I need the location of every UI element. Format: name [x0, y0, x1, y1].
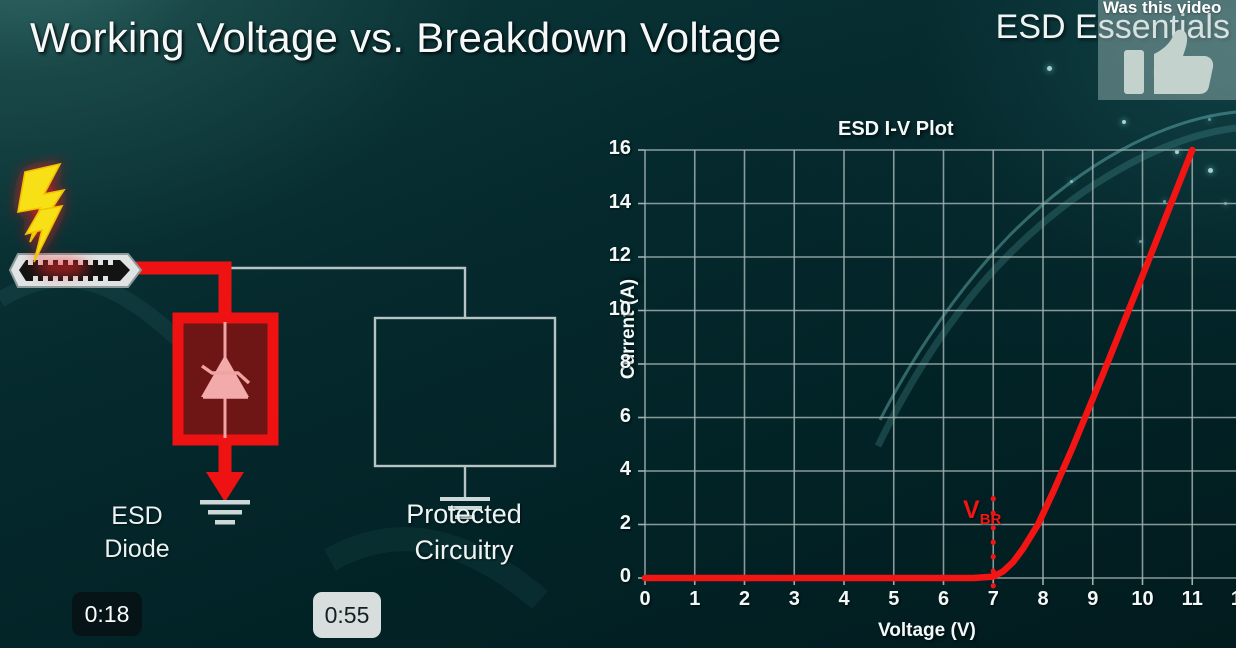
chart-x-tick: 7	[973, 588, 1013, 611]
vbr-sub: BR	[980, 511, 1002, 528]
chart-xlabel: Voltage (V)	[878, 620, 976, 642]
esd-current-path	[135, 268, 225, 318]
chart-x-tick: 6	[924, 588, 964, 611]
chart-y-tick: 8	[589, 351, 631, 374]
chart-y-tick: 16	[589, 137, 631, 160]
chart-y-tick: 10	[589, 298, 631, 321]
thumbs-up-icon[interactable]	[1124, 28, 1216, 98]
chart-y-tick: 14	[589, 191, 631, 214]
page-title: Working Voltage vs. Breakdown Voltage	[30, 14, 781, 62]
lightning-bolt-icon	[18, 164, 64, 262]
total-time-badge[interactable]: 0:55	[313, 592, 381, 638]
esd-ground-icon	[200, 500, 250, 525]
video-survey-overlay[interactable]: Was this video	[1098, 0, 1236, 100]
esd-iv-chart: ESD I-V Plot Current (A) Voltage (V) 024…	[578, 108, 1236, 648]
chart-y-tick: 12	[589, 244, 631, 267]
chart-x-tick: 5	[874, 588, 914, 611]
chart-x-tick: 8	[1023, 588, 1063, 611]
signal-trace	[150, 268, 465, 318]
protected-circuitry-box	[375, 318, 555, 466]
chart-x-tick: 11	[1172, 588, 1212, 611]
chart-plot-area	[578, 108, 1236, 648]
slide-canvas: Working Voltage vs. Breakdown Voltage ES…	[0, 0, 1236, 648]
chart-x-tick: 1	[675, 588, 715, 611]
chart-x-tick: 3	[774, 588, 814, 611]
esd-diode-label-line1: ESD	[111, 502, 162, 530]
chart-x-tick: 2	[725, 588, 765, 611]
esd-protection-circuit: ESD Diode Protected Circuitry	[0, 150, 600, 570]
chart-y-tick: 0	[589, 565, 631, 588]
chart-x-tick: 9	[1073, 588, 1113, 611]
esd-diode-label-line2: Diode	[104, 535, 169, 563]
chart-x-tick: 0	[625, 588, 665, 611]
esd-ground-arrow	[206, 440, 244, 502]
esd-diode-label: ESD Diode	[88, 500, 186, 566]
chart-y-tick: 2	[589, 512, 631, 535]
chart-ylabel: Current (A)	[618, 254, 640, 404]
chart-y-tick: 4	[589, 458, 631, 481]
survey-prompt: Was this video	[1103, 0, 1221, 18]
vbr-main: V	[963, 496, 980, 524]
hdmi-connector	[10, 254, 141, 287]
chart-title: ESD I-V Plot	[838, 118, 954, 141]
chart-x-tick: 10	[1123, 588, 1163, 611]
current-time-badge[interactable]: 0:18	[72, 592, 142, 636]
chart-x-tick: 12	[1222, 588, 1236, 611]
protected-label-line2: Circuitry	[415, 535, 514, 565]
protected-label-line1: Protected	[406, 499, 522, 529]
protected-circuitry-label: Protected Circuitry	[380, 497, 548, 569]
chart-y-tick: 6	[589, 405, 631, 428]
chart-x-tick: 4	[824, 588, 864, 611]
breakdown-voltage-annotation: VBR	[963, 496, 1001, 528]
